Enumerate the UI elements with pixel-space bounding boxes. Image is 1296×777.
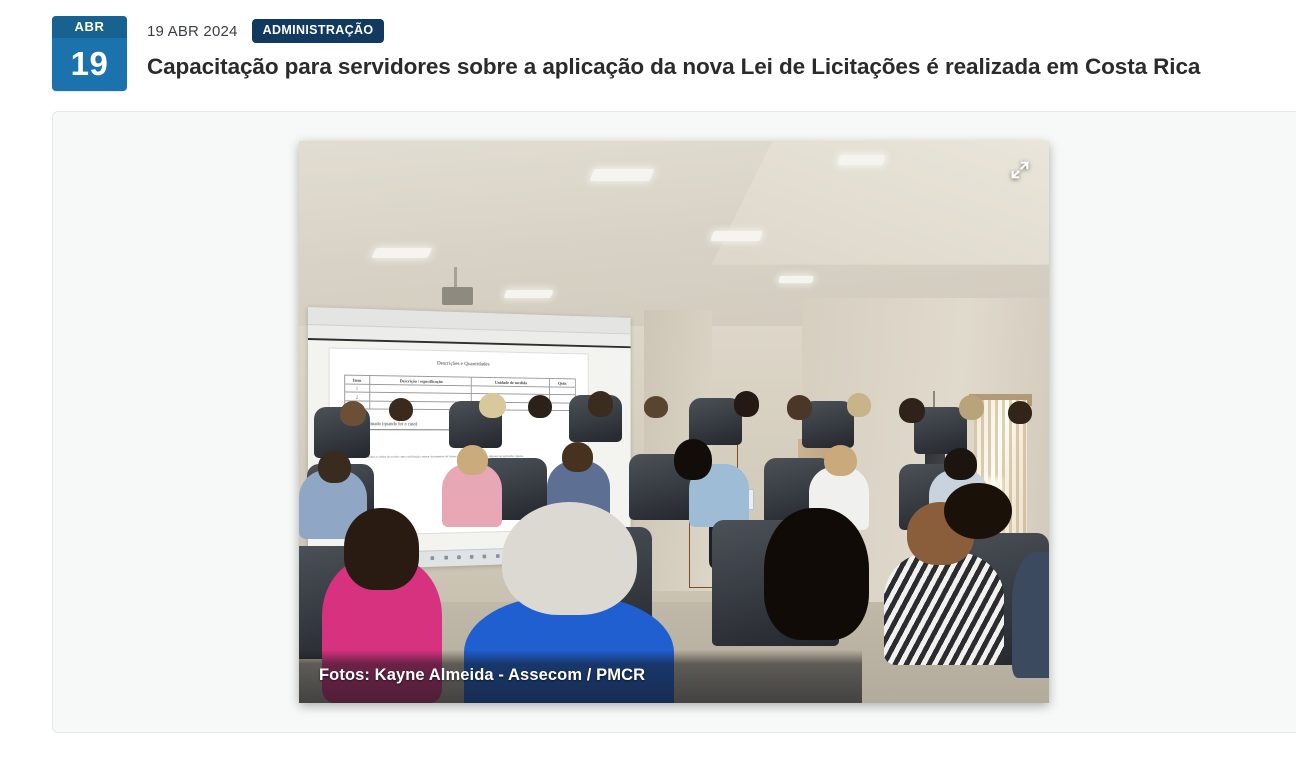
news-header: ABR 19 19 ABR 2024 ADMINISTRAÇÃO Capacit… (52, 16, 1296, 96)
projected-doc-title: Descrições e Quantidades (344, 359, 576, 369)
attendee-head (528, 395, 552, 419)
article-content-card: Descrições e Quantidades Item Descrição … (52, 111, 1296, 733)
attendee-head (318, 451, 351, 482)
attendee-head (562, 442, 593, 472)
ceiling-light (372, 248, 433, 258)
expand-arrows-icon[interactable] (1005, 155, 1035, 185)
header-text-block: 19 ABR 2024 ADMINISTRAÇÃO Capacitação pa… (147, 16, 1296, 81)
ceiling-light (838, 155, 885, 165)
photo-scene: Descrições e Quantidades Item Descrição … (299, 141, 1049, 703)
category-badge[interactable]: ADMINISTRAÇÃO (252, 19, 385, 43)
attendee-head (944, 448, 977, 479)
page-title: Capacitação para servidores sobre a apli… (147, 53, 1296, 81)
attendee-body (1012, 552, 1050, 678)
attendee-head (734, 391, 759, 416)
attendee-head (344, 508, 419, 590)
date-badge: ABR 19 (52, 16, 127, 91)
attendee-head (787, 395, 813, 420)
attendee-head (674, 439, 712, 480)
attendee-head (899, 398, 925, 423)
attendee-head (847, 393, 871, 417)
publish-date: 19 ABR 2024 (147, 23, 238, 40)
attendee-hair (944, 483, 1012, 540)
attendee-head (1008, 401, 1032, 425)
ceiling-light (778, 276, 814, 283)
article-photo[interactable]: Descrições e Quantidades Item Descrição … (299, 141, 1049, 703)
attendee-body (884, 552, 1004, 665)
attendee-head (588, 391, 614, 416)
table-col-item: Item (344, 375, 369, 384)
ceiling-light (504, 290, 554, 298)
attendee-head (824, 445, 857, 476)
table-col-qty: Qtde. (550, 379, 576, 387)
attendee-head (457, 445, 488, 475)
attendee-head (340, 401, 366, 426)
attendee-head (764, 508, 869, 640)
meta-row: 19 ABR 2024 ADMINISTRAÇÃO (147, 18, 1296, 44)
date-badge-day: 19 (52, 38, 127, 91)
attendee-head (502, 502, 637, 615)
ceiling-light (710, 231, 762, 241)
attendee-head (644, 396, 668, 418)
projector (442, 287, 473, 305)
attendee-head (389, 398, 413, 422)
date-badge-month: ABR (52, 16, 127, 38)
attendee-head (959, 395, 984, 420)
attendee-head (479, 393, 506, 418)
photo-caption: Fotos: Kayne Almeida - Assecom / PMCR (299, 650, 862, 703)
ceiling-light (589, 169, 654, 181)
